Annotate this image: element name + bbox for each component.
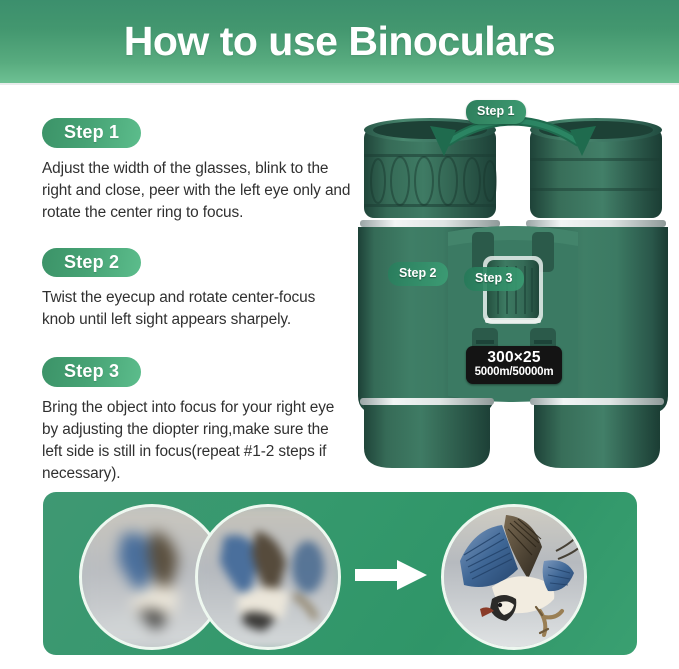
right-eyecup [530, 118, 662, 218]
comparison-panel [43, 492, 637, 655]
step-badge-1: Step 1 [42, 118, 141, 148]
steps-list: Step 1 Adjust the width of the glasses, … [42, 118, 352, 503]
callout-step1: Step 1 [466, 100, 526, 124]
step-text-2: Twist the eyecup and rotate center-focus… [42, 287, 352, 331]
right-chrome-ring [526, 220, 666, 227]
binoculars-illustration: Step 1 Step 2 Step 3 300×25 5000m/50000m [352, 96, 674, 478]
header-divider [0, 83, 679, 85]
infographic-page: How to use Binoculars Step 1 Adjust the … [0, 0, 679, 669]
callout-step2: Step 2 [388, 262, 448, 286]
arrow-right-icon [355, 560, 427, 590]
step-badge-3: Step 3 [42, 357, 141, 387]
step-block-2: Step 2 Twist the eyecup and rotate cente… [42, 248, 352, 332]
spec-range: 5000m/50000m [466, 366, 562, 379]
left-eyecup [364, 118, 496, 218]
step-block-3: Step 3 Bring the object into focus for y… [42, 357, 352, 484]
step-block-1: Step 1 Adjust the width of the glasses, … [42, 118, 352, 224]
bird-image-blurred-right [198, 507, 338, 647]
page-title: How to use Binoculars [124, 21, 555, 62]
blurred-view-right [195, 504, 341, 650]
left-chrome-ring [360, 220, 500, 227]
step-text-3: Bring the object into focus for your rig… [42, 397, 352, 485]
header-banner: How to use Binoculars [0, 0, 679, 83]
focused-view [441, 504, 587, 650]
callout-step3: Step 3 [464, 267, 524, 291]
spec-plate: 300×25 5000m/50000m [466, 346, 562, 384]
step-badge-2: Step 2 [42, 248, 141, 278]
step-text-1: Adjust the width of the glasses, blink t… [42, 158, 352, 224]
bird-image-sharp [444, 507, 584, 647]
spec-model: 300×25 [466, 350, 562, 366]
objective-housings [360, 398, 664, 468]
